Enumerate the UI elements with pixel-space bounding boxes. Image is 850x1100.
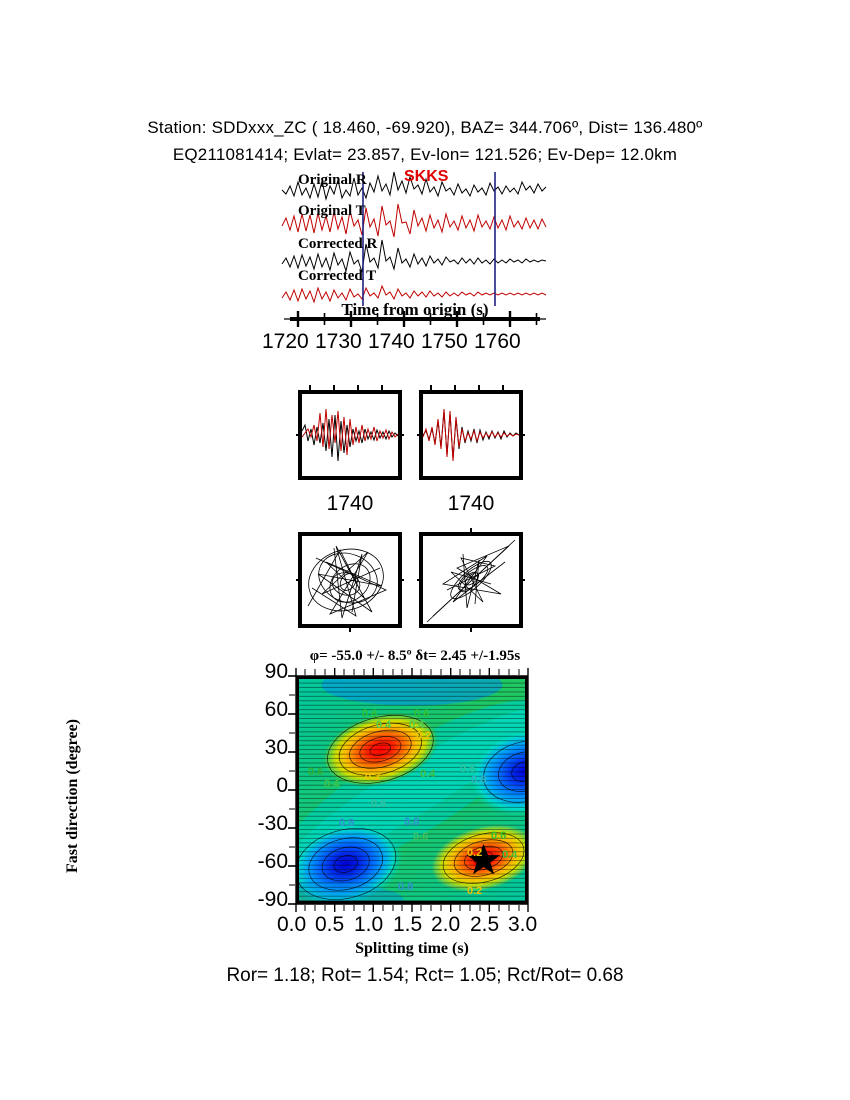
particle-motion-box-uncorrected [296,528,404,632]
trace-label-corrected-r: Corrected R [298,236,377,253]
header-line-2: EQ211081414; Evlat= 23.857, Ev-lon= 121.… [173,145,677,164]
particle-motion-box-corrected [417,528,525,632]
xtick-0-5: 0.5 [315,913,344,937]
ytick-m60: -60 [258,850,288,874]
fast-slow-corrected-svg [417,385,525,483]
time-axis-ticklabels: 1720 1730 1740 1750 1760 [262,330,568,356]
header-line-1: Station: SDDxxx_ZC ( 18.460, -69.920), B… [147,118,702,137]
contour-map[interactable]: 0.6 0.6 0.4 0.4 0.2 0.2 0.4 0.4 0.6 0.6 … [296,676,528,904]
contour-xticklabels: 0.0 0.5 1.0 1.5 2.0 2.5 3.0 [270,913,560,939]
contour-label: 0.2 [467,886,482,897]
phase-marker-skks: SKKS [404,168,448,186]
ytick-0: 0 [276,774,288,798]
contour-label: 0.8 [471,775,486,786]
fast-slow-uncorrected-svg [296,385,404,483]
particle-motion-corrected-svg [417,528,525,632]
ytick-60: 60 [265,698,288,722]
time-tick-1730: 1730 [315,330,362,354]
contour-label: 0.6 [308,767,323,778]
fast-slow-corrected-ticklabel: 1740 [417,492,525,516]
footer-statistics: Ror= 1.18; Rot= 1.54; Rct= 1.05; Rct/Rot… [0,965,850,987]
contour-ylabel: Fast direction (degree) [64,676,82,916]
fast-slow-uncorrected-ticklabel: 1740 [296,492,404,516]
time-tick-1750: 1750 [421,330,468,354]
contour-yticklabels: 90 60 30 0 -30 -60 -90 [246,672,292,904]
contour-label: 0.4 [324,779,339,790]
trace-label-corrected-t: Corrected T [298,268,376,285]
header-event-line: EQ211081414; Evlat= 23.857, Ev-lon= 121.… [0,145,850,165]
fast-slow-box-uncorrected [296,385,404,483]
xtick-2-0: 2.0 [431,913,460,937]
contour-label: 0.6 [371,799,386,810]
contour-label: 0.2 [467,848,482,859]
ytick-30: 30 [265,736,288,760]
contour-label: 0.8 [398,882,413,893]
time-tick-1760: 1760 [474,330,521,354]
contour-label: 0.6 [491,831,506,842]
contour-label: 0.6 [413,832,428,843]
trace-label-original-t: Original T [298,203,366,220]
contour-xlabel: Splitting time (s) [288,940,536,958]
time-tick-1740: 1740 [368,330,415,354]
contour-label: 0.4 [502,850,517,861]
xtick-2-5: 2.5 [470,913,499,937]
contour-title: φ= -55.0 +/- 8.5º δt= 2.45 +/-1.95s [240,648,590,665]
xtick-3-0: 3.0 [508,913,537,937]
contour-label: 0.4 [420,769,435,780]
time-tick-1720: 1720 [262,330,309,354]
time-axis-title: Time from origin (s) [280,300,550,320]
particle-motion-uncorrected-svg [296,528,404,632]
fast-slow-box-corrected [417,385,525,483]
xtick-1-5: 1.5 [393,913,422,937]
xtick-1-0: 1.0 [354,913,383,937]
contour-label: 0.2 [416,731,431,742]
contour-label: 0.8 [339,818,354,829]
ytick-m90: -90 [258,888,288,912]
footer-line: Ror= 1.18; Rot= 1.54; Rct= 1.05; Rct/Rot… [226,965,623,986]
contour-label: 0.8 [404,817,419,828]
contour-map-svg [299,679,525,901]
contour-label: 0.4 [376,720,391,731]
contour-label: 0.6 [362,709,377,720]
xtick-0-0: 0.0 [277,913,306,937]
contour-label: 0.2 [365,772,380,783]
ytick-90: 90 [265,660,288,684]
ytick-m30: -30 [258,812,288,836]
header-station-line: Station: SDDxxx_ZC ( 18.460, -69.920), B… [0,118,850,138]
trace-label-original-r: Original R [298,172,367,189]
